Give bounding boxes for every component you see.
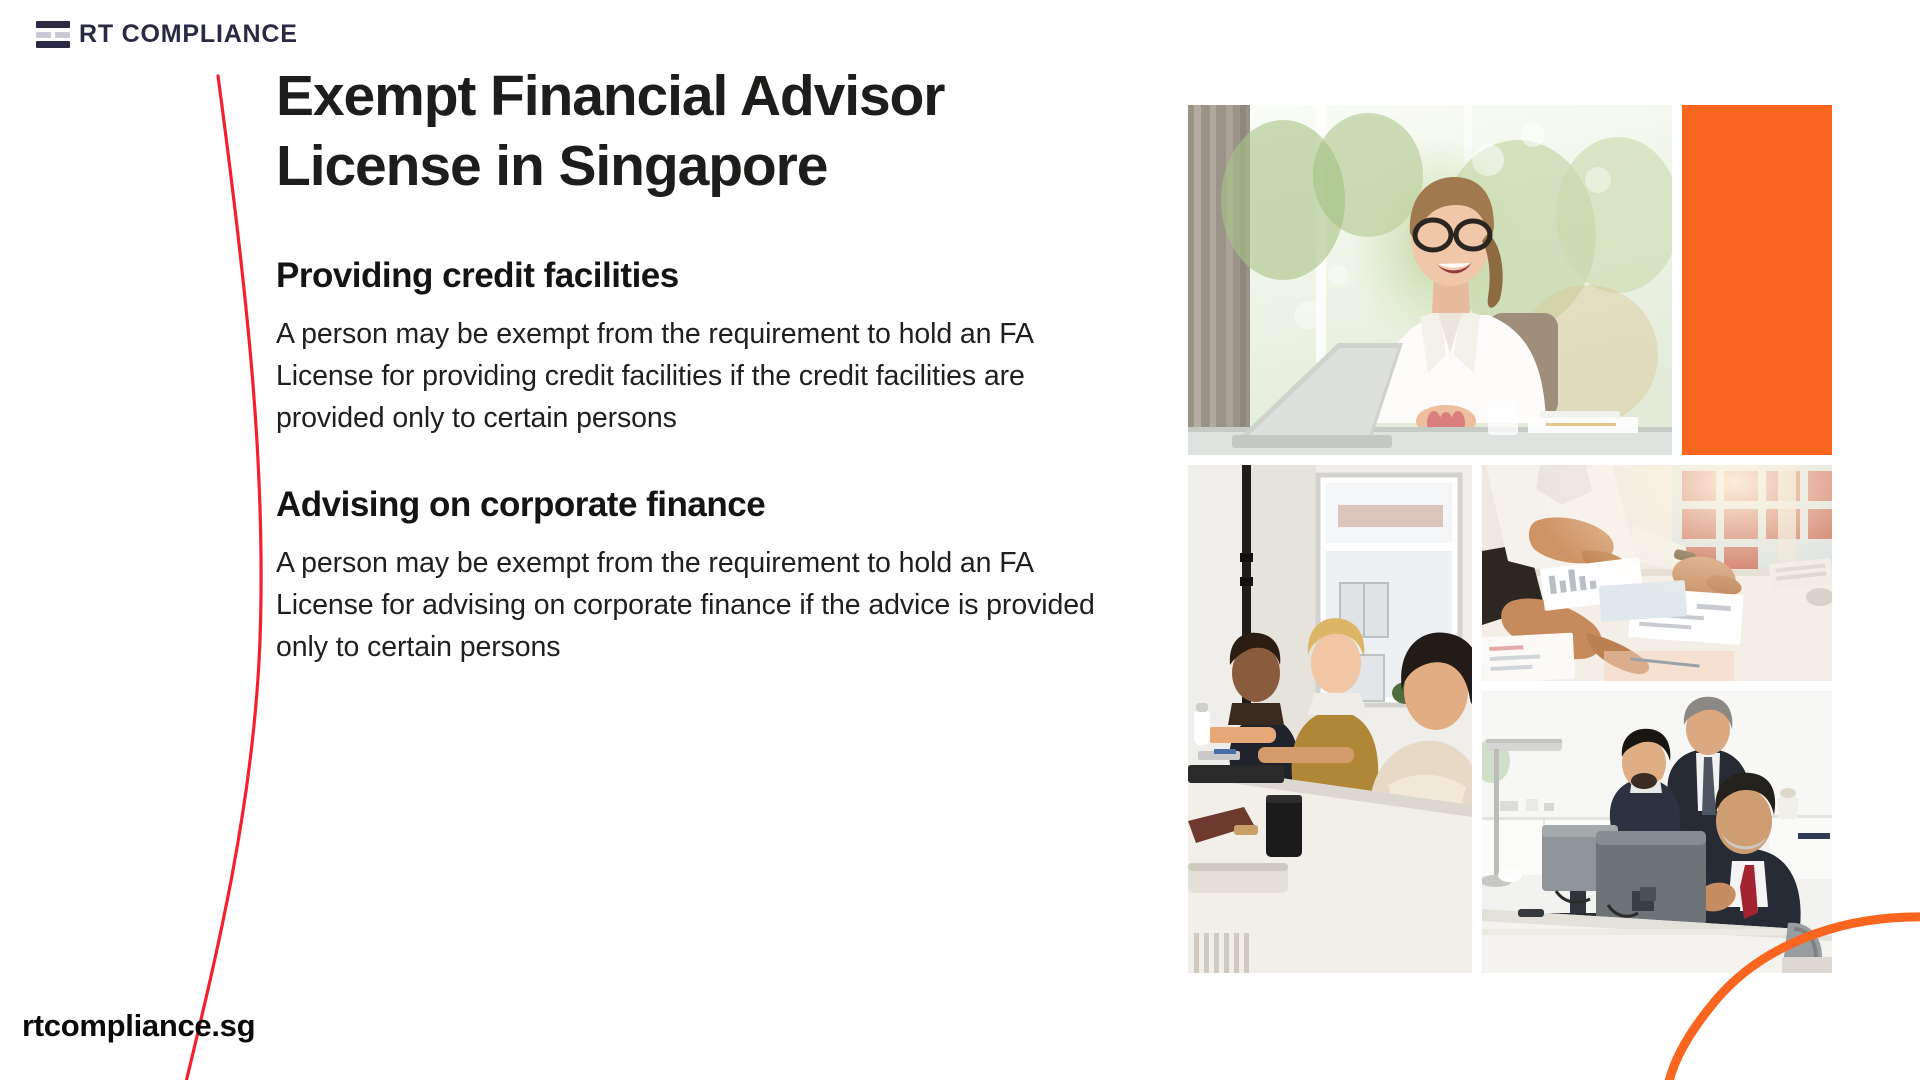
orange-color-block <box>1682 105 1832 455</box>
section-providing-credit-facilities: Providing credit facilities A person may… <box>276 255 1156 440</box>
footer-website-url[interactable]: rtcompliance.sg <box>22 1008 255 1044</box>
section-heading: Providing credit facilities <box>276 255 1156 297</box>
photo-woman-laptop <box>1188 105 1672 455</box>
content-column: Exempt Financial Advisor License in Sing… <box>276 62 1156 674</box>
rt-compliance-bars-logo <box>36 21 70 48</box>
photo-hands-documents <box>1482 465 1832 681</box>
section-advising-on-corporate-finance: Advising on corporate finance A person m… <box>276 484 1156 669</box>
section-body: A person may be exempt from the requirem… <box>276 542 1121 669</box>
section-spacer <box>276 446 1156 484</box>
photo-collage <box>1188 105 1832 973</box>
slide-canvas: RT COMPLIANCE Exempt Financial Advisor L… <box>0 0 1920 1080</box>
brand-logo-text: RT COMPLIANCE <box>79 20 298 49</box>
section-heading: Advising on corporate finance <box>276 484 1156 526</box>
page-title: Exempt Financial Advisor License in Sing… <box>276 62 1116 201</box>
photo-team-desks <box>1188 465 1472 973</box>
brand-logo[interactable]: RT COMPLIANCE <box>36 20 298 49</box>
section-body: A person may be exempt from the requirem… <box>276 313 1121 440</box>
photo-businessmen-monitors <box>1482 691 1832 973</box>
